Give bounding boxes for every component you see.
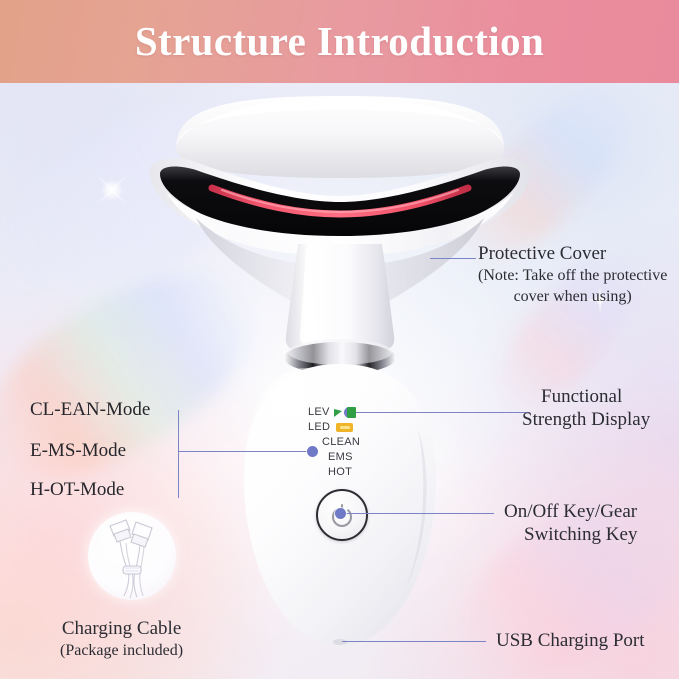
usb-cable-icon: [96, 514, 170, 600]
callout-strength-display: Functional Strength Display: [541, 385, 650, 431]
onoff-key-line2: Switching Key: [524, 523, 637, 546]
indicator-panel: LEV LED CLEAN EMS HOT: [308, 405, 360, 480]
infographic-canvas: Structure Introduction: [0, 0, 679, 679]
leader-line-strength-display: [355, 412, 530, 413]
callout-onoff-key: On/Off Key/Gear Switching Key: [504, 500, 637, 546]
callout-protective-cover: Protective Cover (Note: Take off the pro…: [478, 242, 667, 307]
mode-label-clean: CL-EAN-Mode: [30, 399, 150, 421]
protective-cover-note-line2: cover when using): [478, 286, 667, 307]
header-banner: Structure Introduction: [0, 0, 679, 83]
anchor-dot-power-button: [335, 508, 346, 519]
mode-label-hot: H-OT-Mode: [30, 479, 124, 501]
usb-charging-port-label: USB Charging Port: [496, 629, 645, 652]
charging-cable-title: Charging Cable: [60, 617, 183, 640]
led-bar-indicator: [336, 423, 353, 432]
level-arrow-icon: [334, 409, 342, 417]
page-title: Structure Introduction: [135, 21, 544, 62]
strength-display-line1: Functional: [541, 385, 650, 408]
leader-line-power-button: [346, 513, 494, 514]
leader-line-modes: [178, 451, 308, 452]
level-bar-indicator: [347, 407, 356, 418]
mode-label-ems: E-MS-Mode: [30, 440, 126, 462]
indicator-label-ems: EMS: [328, 452, 353, 463]
leader-line-usb-port: [342, 641, 486, 642]
onoff-key-line1: On/Off Key/Gear: [504, 500, 637, 523]
protective-cover-note-line1: (Note: Take off the protective: [478, 265, 667, 286]
protective-cover-title: Protective Cover: [478, 242, 667, 265]
charging-cable-subtitle: (Package included): [60, 640, 183, 661]
indicator-label-lev: LEV: [308, 407, 330, 418]
leader-bracket-modes: [178, 410, 179, 498]
strength-display-line2: Strength Display: [522, 408, 650, 431]
indicator-label-led: LED: [308, 422, 330, 433]
callout-charging-cable: Charging Cable (Package included): [60, 617, 183, 661]
leader-line-protective-cover: [430, 258, 476, 259]
callout-usb-charging-port: USB Charging Port: [496, 629, 645, 652]
indicator-label-hot: HOT: [328, 467, 352, 478]
indicator-label-clean: CLEAN: [322, 437, 360, 448]
